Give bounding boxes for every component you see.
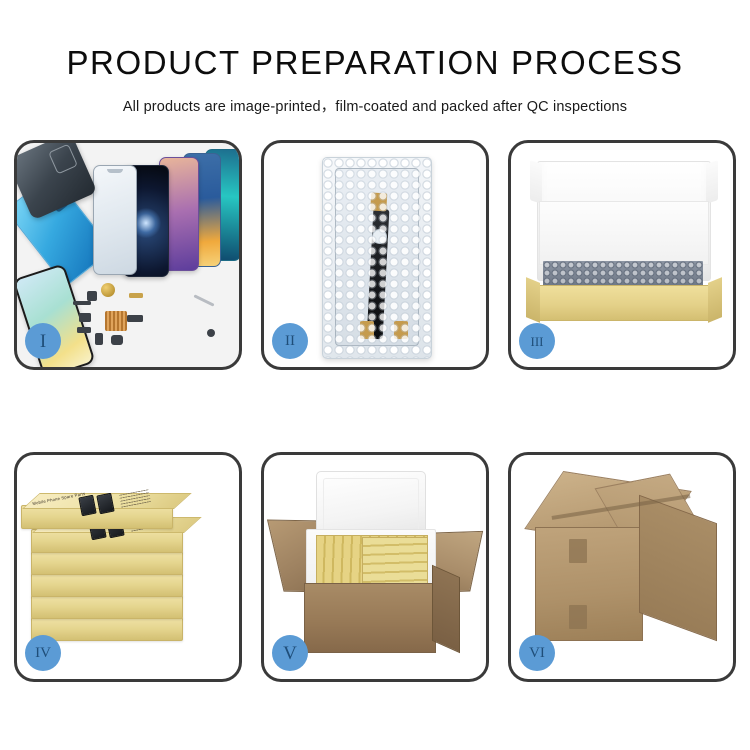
part-screw-icon <box>207 329 215 337</box>
step-panel-products[interactable]: I <box>14 140 242 370</box>
step-badge-2: II <box>272 323 308 359</box>
stacked-box-1: Mobile Phone Spare Parts <box>21 505 173 529</box>
box-bubble-contents-icon <box>543 261 703 287</box>
part-small-3-icon <box>95 333 103 345</box>
bubble-bag-icon <box>322 157 432 359</box>
part-flex-icon <box>127 315 143 322</box>
speaker-part-icon <box>101 283 115 297</box>
connector-right-icon <box>394 321 408 339</box>
step-badge-3: III <box>519 323 555 359</box>
phone-housing-icon <box>17 143 97 220</box>
carton-side-icon <box>432 565 460 653</box>
part-small-1-icon <box>79 313 91 322</box>
packed-boxes-stack-icon <box>362 537 428 585</box>
part-small-5-icon <box>87 291 97 301</box>
product-preparation-infographic: PRODUCT PREPARATION PROCESS All products… <box>0 0 750 750</box>
carton-right-face-icon <box>639 495 717 641</box>
step-panel-sealed-carton[interactable]: VI <box>508 452 736 682</box>
stacked-box-6 <box>31 617 183 641</box>
box-stack: Mobile Phone Spare Parts Mobile Phone Sp… <box>31 483 231 663</box>
step-panel-inner-box[interactable]: III <box>508 140 736 370</box>
step-panel-stacked-boxes[interactable]: Mobile Phone Spare Parts Mobile Phone Sp… <box>14 452 242 682</box>
screen-glass-icon <box>93 165 137 275</box>
stacked-box-4 <box>31 573 183 597</box>
part-bar-icon <box>73 301 91 305</box>
carton-tape-bottom-icon <box>569 605 587 629</box>
box-foam-icon <box>539 201 709 265</box>
stacked-box-5 <box>31 595 183 619</box>
connector-left-icon <box>360 321 374 339</box>
part-small-4-icon <box>111 335 123 345</box>
page-title: PRODUCT PREPARATION PROCESS <box>0 0 750 82</box>
part-board-icon <box>105 311 127 331</box>
header: PRODUCT PREPARATION PROCESS All products… <box>0 0 750 116</box>
step-panel-bubble-wrap[interactable]: II <box>261 140 489 370</box>
step-badge-5: V <box>272 635 308 671</box>
step-panel-foam-carton[interactable]: V <box>261 452 489 682</box>
step-badge-1: I <box>25 323 61 359</box>
ic-chip-icon <box>372 229 387 244</box>
carton-front-face-icon <box>535 527 643 641</box>
part-gold-icon <box>129 293 143 298</box>
stacked-box-3 <box>31 551 183 575</box>
stacked-box-2: Mobile Phone Spare Parts <box>31 529 183 553</box>
part-tool-icon <box>193 294 214 306</box>
steps-grid: I II <box>14 140 736 682</box>
carton-front-icon <box>304 583 436 653</box>
bag-inner-item <box>335 168 419 346</box>
part-small-2-icon <box>77 327 91 333</box>
page-subtitle: All products are image-printed，film-coat… <box>0 82 750 116</box>
step-badge-6: VI <box>519 635 555 671</box>
box-front-panel-icon <box>535 285 713 321</box>
step-badge-4: IV <box>25 635 61 671</box>
carton-tape-top-icon <box>569 539 587 563</box>
